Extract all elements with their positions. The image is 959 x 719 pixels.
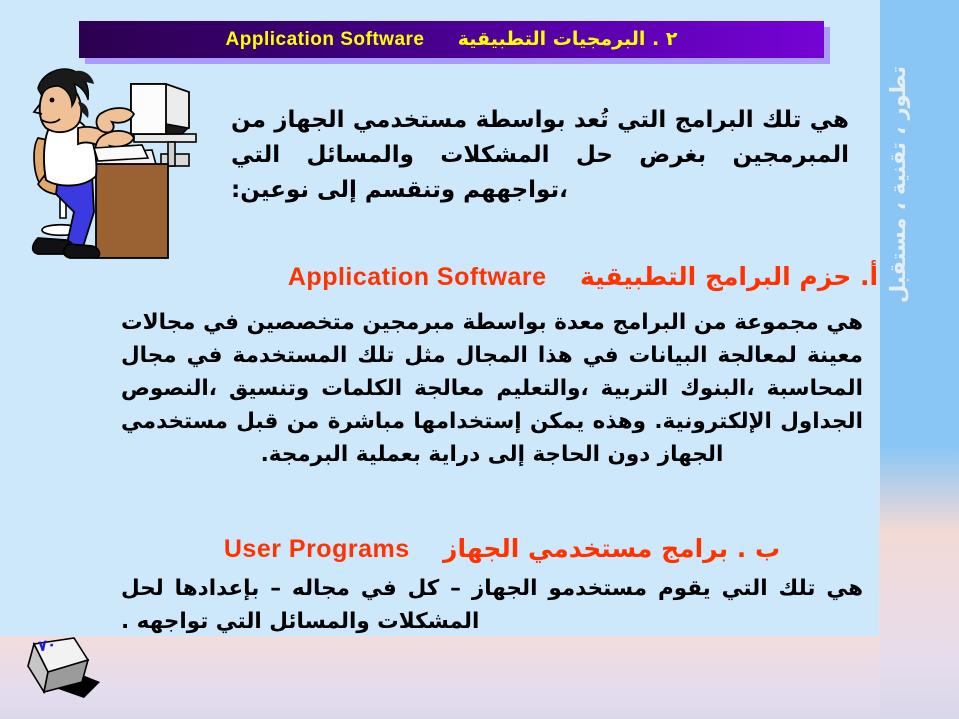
- slide-root: تطور ، تقنية ، مستقبل ٢ . البرمجيات التط…: [0, 0, 959, 719]
- section-b-heading: ب . برامج مستخدمي الجهاز User Programs: [224, 534, 780, 564]
- section-b-marker: ب .: [737, 534, 780, 563]
- section-a-heading: أ. حزم البرامج التطبيقية Application Sof…: [288, 262, 878, 292]
- section-a-heading-english: Application Software: [288, 263, 547, 291]
- computer-user-illustration: [16, 62, 228, 274]
- title-arabic: البرمجيات التطبيقية: [458, 28, 646, 50]
- section-b-body: هي تلك التي يقوم مستخدمو الجهاز – كل في …: [121, 572, 863, 638]
- slide-title-container: ٢ . البرمجيات التطبيقية Application Soft…: [79, 21, 824, 58]
- section-b-heading-arabic: برامج مستخدمي الجهاز: [443, 534, 728, 563]
- title-english: Application Software: [226, 29, 425, 50]
- title-bar: ٢ . البرمجيات التطبيقية Application Soft…: [79, 21, 824, 58]
- section-b-heading-english: User Programs: [224, 535, 410, 563]
- keyboard-key-icon: [22, 630, 142, 710]
- title-number: ٢ .: [652, 28, 677, 50]
- side-decoration-band: تطور ، تقنية ، مستقبل: [880, 0, 959, 719]
- page-title: ٢ . البرمجيات التطبيقية Application Soft…: [226, 28, 678, 51]
- section-a-heading-arabic: حزم البرامج التطبيقية: [580, 262, 851, 291]
- intro-paragraph: هي تلك البرامج التي تُعد بواسطة مستخدمي …: [231, 103, 849, 208]
- section-a-body: هي مجموعة من البرامج معدة بواسطة مبرمجين…: [121, 306, 863, 471]
- section-a-marker: أ.: [860, 262, 878, 291]
- side-watermark-text: تطور ، تقنية ، مستقبل: [880, 34, 959, 334]
